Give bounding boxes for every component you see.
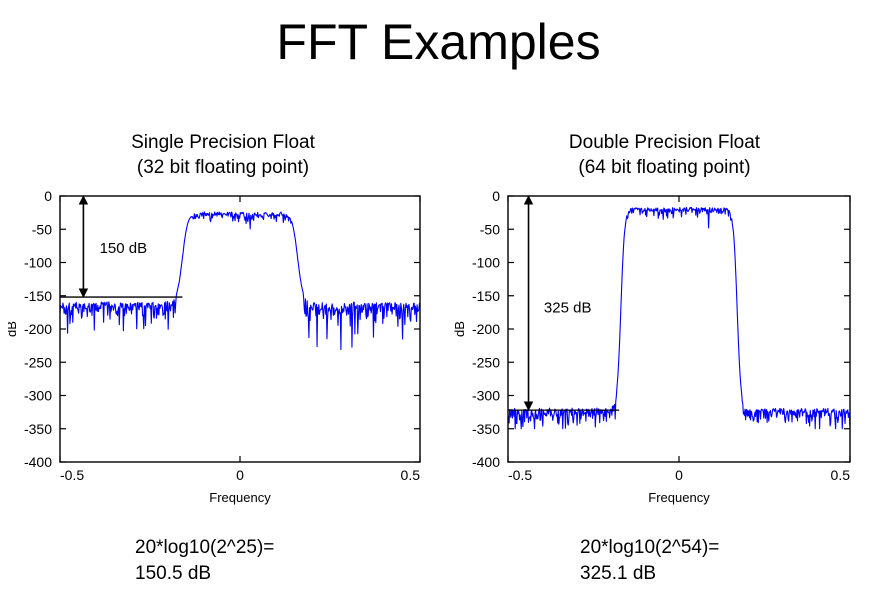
caption-line-1: 20*log10(2^54)= xyxy=(580,535,719,561)
y-tick-label: -350 xyxy=(472,421,500,437)
fft-plot-double-precision: 0-50-100-150-200-250-300-350-400-0.500.5… xyxy=(452,188,877,518)
plot-frame xyxy=(60,196,420,462)
slide-canvas: FFT Examples Single Precision Float (32 … xyxy=(0,0,877,609)
panel-double-precision: Double Precision Float (64 bit floating … xyxy=(452,130,877,518)
x-tick-label: -0.5 xyxy=(508,467,532,483)
y-tick-label: -100 xyxy=(24,255,52,271)
y-tick-label: -350 xyxy=(24,421,52,437)
fft-plot-single-precision: 0-50-100-150-200-250-300-350-400-0.500.5… xyxy=(8,188,438,518)
y-tick-label: -200 xyxy=(472,321,500,337)
y-tick-label: -150 xyxy=(24,288,52,304)
figure-single-precision-fft: 0-50-100-150-200-250-300-350-400-0.500.5… xyxy=(8,188,438,518)
caption-line-2: 150.5 dB xyxy=(135,561,274,587)
x-axis-label: Frequency xyxy=(648,490,710,505)
subtitle-double-precision: Double Precision Float (64 bit floating … xyxy=(452,130,877,180)
subtitle-line-2: (64 bit floating point) xyxy=(452,155,877,180)
y-axis-label: dB xyxy=(452,321,467,337)
y-axis-label: dB xyxy=(8,321,19,337)
figure-double-precision-fft: 0-50-100-150-200-250-300-350-400-0.500.5… xyxy=(452,188,877,518)
x-axis-label: Frequency xyxy=(209,490,271,505)
y-tick-label: 0 xyxy=(44,188,52,204)
subtitle-single-precision: Single Precision Float (32 bit floating … xyxy=(8,130,438,180)
y-tick-label: -250 xyxy=(472,354,500,370)
caption-line-1: 20*log10(2^25)= xyxy=(135,535,274,561)
y-tick-label: -400 xyxy=(472,454,500,470)
y-tick-label: -300 xyxy=(24,388,52,404)
y-tick-label: -150 xyxy=(472,288,500,304)
subtitle-line-2: (32 bit floating point) xyxy=(8,155,438,180)
y-tick-label: -300 xyxy=(472,388,500,404)
subtitle-line-1: Double Precision Float xyxy=(452,130,877,155)
x-tick-label: 0 xyxy=(675,467,683,483)
caption-single-precision: 20*log10(2^25)= 150.5 dB xyxy=(135,535,274,587)
dynamic-range-label: 325 dB xyxy=(544,300,592,317)
y-tick-label: -250 xyxy=(24,354,52,370)
y-tick-label: 0 xyxy=(492,188,500,204)
y-tick-label: -50 xyxy=(32,221,52,237)
y-tick-label: -400 xyxy=(24,454,52,470)
x-tick-label: 0.5 xyxy=(831,467,851,483)
x-tick-label: 0 xyxy=(236,467,244,483)
y-tick-label: -100 xyxy=(472,255,500,271)
caption-double-precision: 20*log10(2^54)= 325.1 dB xyxy=(580,535,719,587)
y-tick-label: -200 xyxy=(24,321,52,337)
panel-single-precision: Single Precision Float (32 bit floating … xyxy=(8,130,438,518)
x-tick-label: 0.5 xyxy=(401,467,421,483)
caption-line-2: 325.1 dB xyxy=(580,561,719,587)
dynamic-range-label: 150 dB xyxy=(100,240,148,257)
subtitle-line-1: Single Precision Float xyxy=(8,130,438,155)
fft-trace xyxy=(508,207,850,428)
fft-trace xyxy=(60,212,420,350)
x-tick-label: -0.5 xyxy=(60,467,84,483)
page-title: FFT Examples xyxy=(0,14,877,72)
y-tick-label: -50 xyxy=(480,221,500,237)
